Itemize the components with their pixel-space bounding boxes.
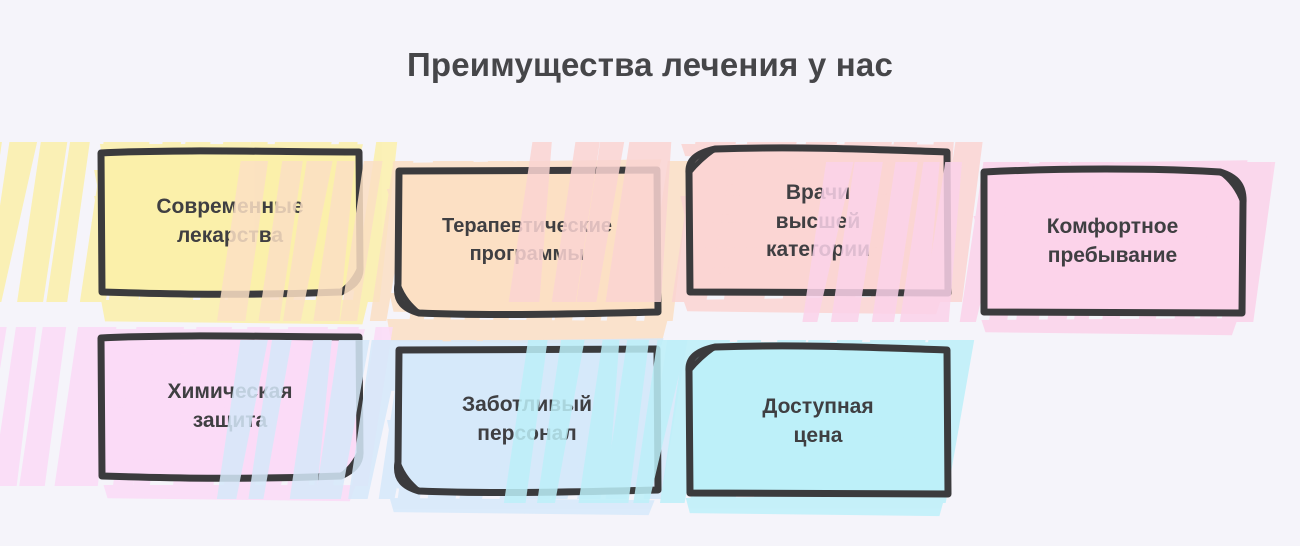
page-title: Преимущества лечения у нас: [0, 46, 1300, 84]
card-comfortable-stay: Комфортное пребывание: [980, 168, 1245, 316]
benefits-infographic: Преимущества лечения у нас Современные л…: [0, 0, 1300, 546]
card-affordable-price: Доступная цена: [686, 346, 950, 497]
card-artwork: [686, 346, 950, 497]
card-artwork: [980, 168, 1245, 316]
